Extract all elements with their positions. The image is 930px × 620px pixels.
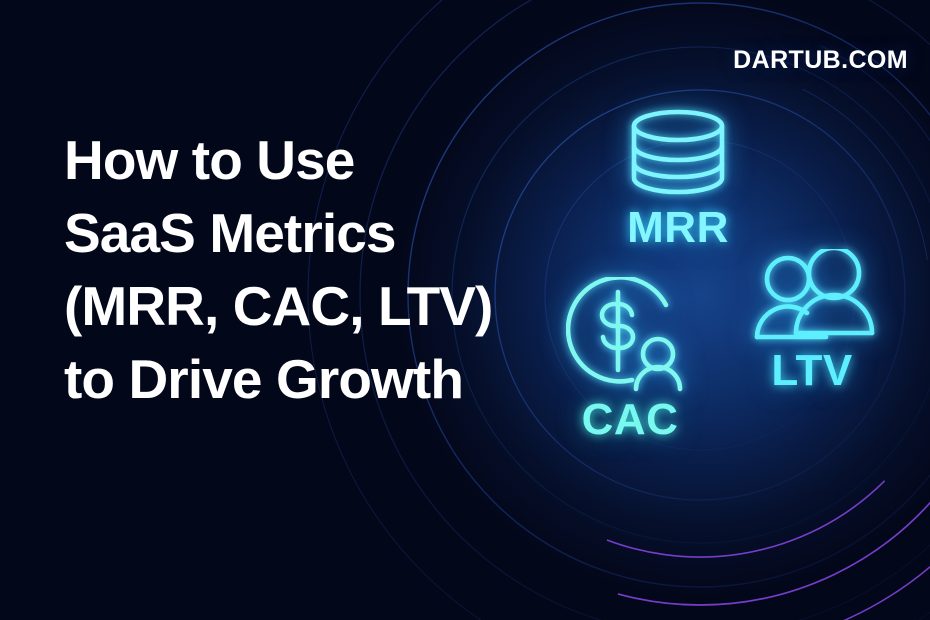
metric-cac: CAC	[566, 277, 694, 442]
title-line: to Drive Growth	[64, 343, 524, 416]
thumbnail-canvas: DARTUB.COM How to Use SaaS Metrics (MRR,…	[0, 0, 930, 620]
two-people-icon	[748, 249, 876, 347]
metric-label-cac: CAC	[582, 398, 679, 442]
title-line: SaaS Metrics	[64, 197, 524, 270]
dollar-circle-person-icon	[566, 277, 694, 392]
site-watermark: DARTUB.COM	[733, 46, 908, 75]
title-line: How to Use	[64, 124, 524, 197]
metric-ltv: LTV	[748, 249, 876, 393]
metric-label-mrr: MRR	[627, 206, 729, 250]
metric-label-ltv: LTV	[771, 349, 852, 393]
title-line: (MRR, CAC, LTV)	[64, 270, 524, 343]
page-title: How to Use SaaS Metrics (MRR, CAC, LTV) …	[64, 124, 524, 416]
metric-mrr: MRR	[621, 108, 735, 250]
database-stack-icon	[621, 108, 735, 198]
